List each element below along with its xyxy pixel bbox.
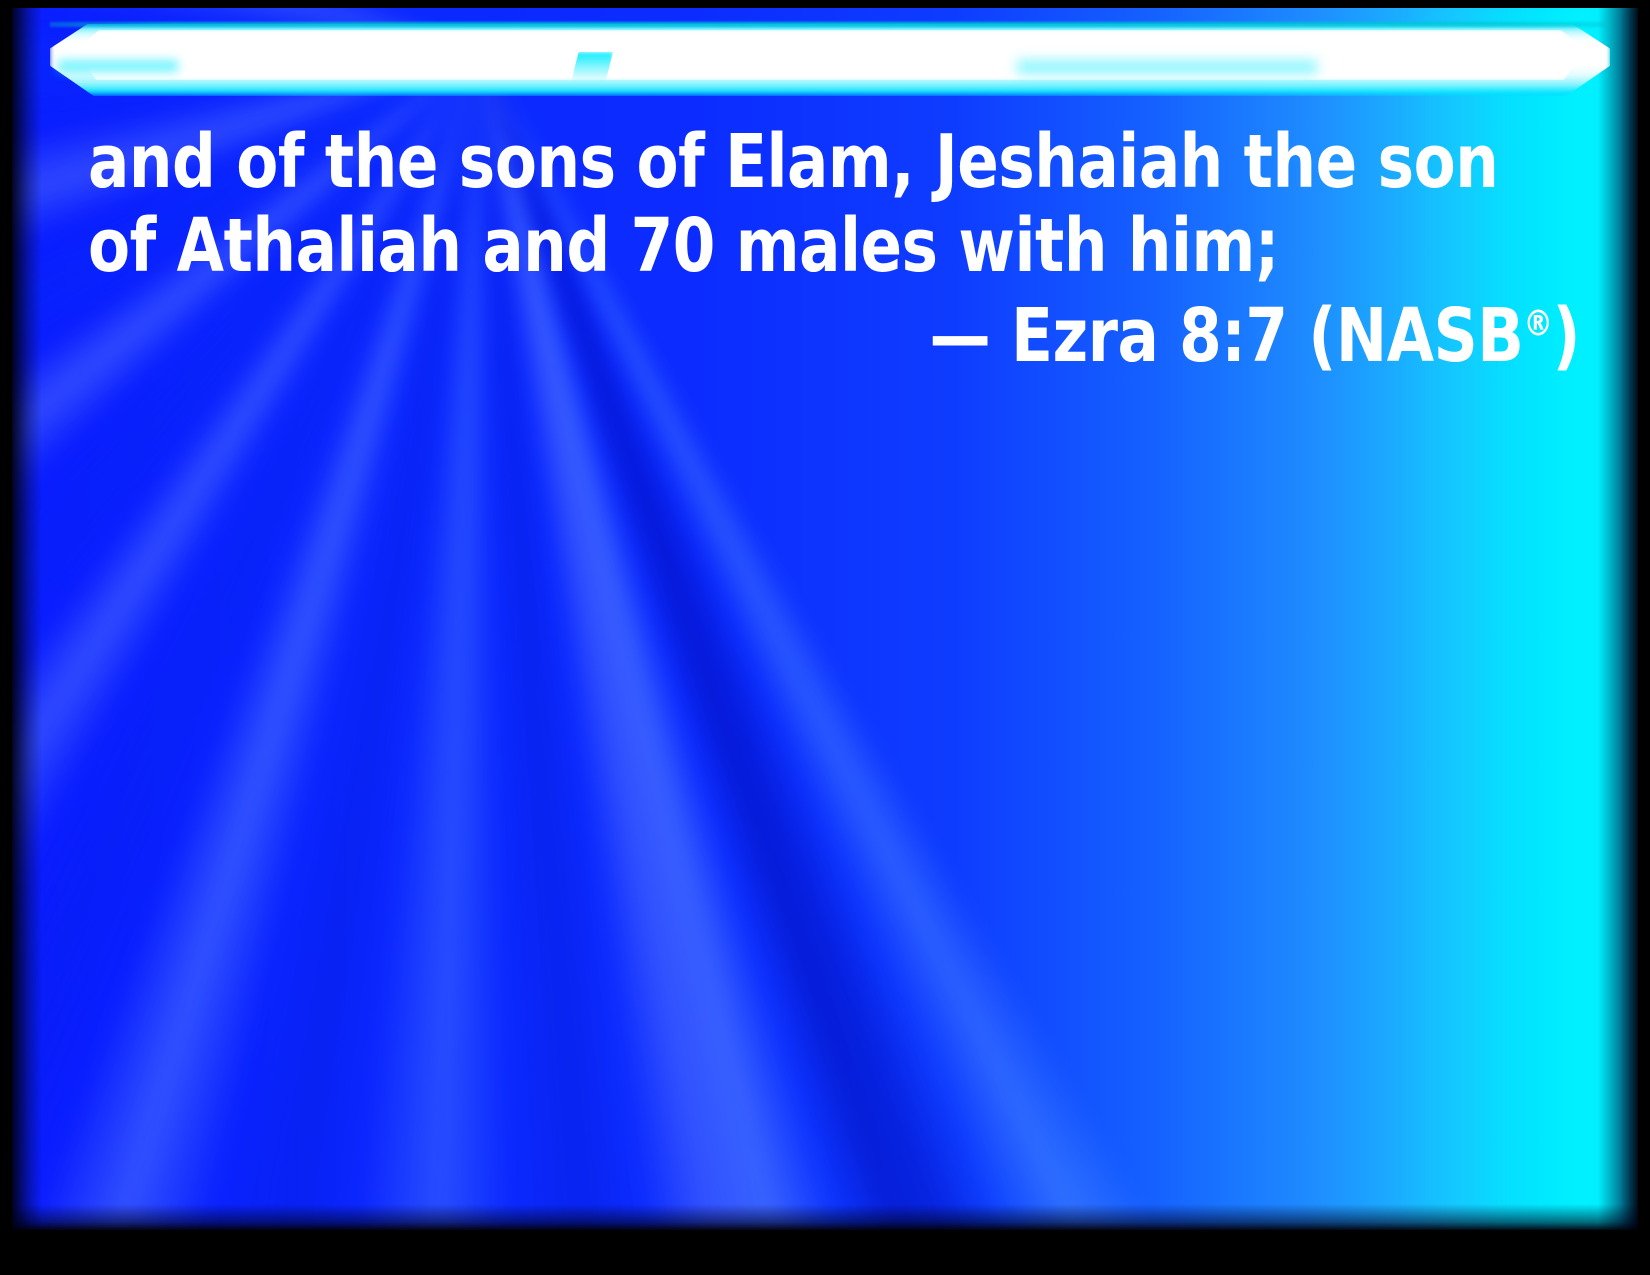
slide-canvas: and of the sons of Elam, Jeshaiah the so… [12,8,1638,1230]
verse-line-1: and of the sons of Elam, Jeshaiah the so… [88,120,1461,204]
registered-trademark-icon: ® [1524,303,1553,344]
citation-suffix: ) [1552,293,1580,379]
slide-frame: and of the sons of Elam, Jeshaiah the so… [0,0,1650,1275]
verse-line-2: of Athaliah and 70 males with him; [88,204,1461,288]
verse-text-block: and of the sons of Elam, Jeshaiah the so… [88,120,1580,378]
background-right-shadow [1598,8,1638,1230]
citation-prefix: — Ezra 8:7 (NASB [929,293,1523,379]
background-bottom-shadow [12,1204,1638,1230]
background-left-shadow [12,8,42,1230]
verse-citation: — Ezra 8:7 (NASB®) [207,294,1580,378]
